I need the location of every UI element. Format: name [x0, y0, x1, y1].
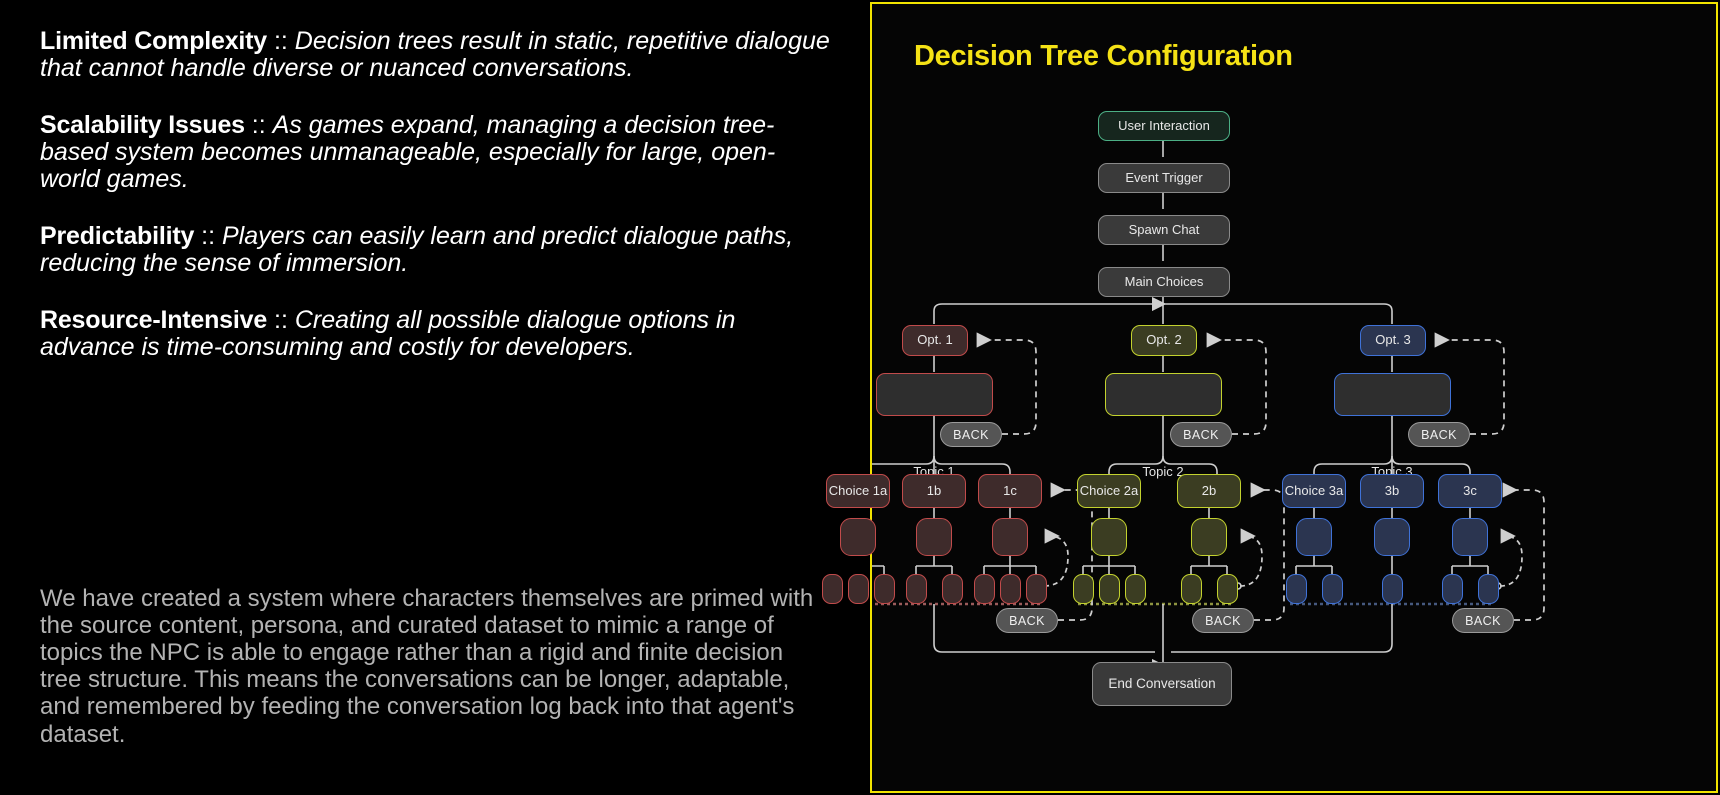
node-sub-3a[interactable] — [1296, 518, 1332, 556]
back-button-topic-2[interactable]: BACK — [1192, 608, 1254, 633]
node-leaf[interactable] — [906, 574, 927, 604]
node-spawn-chat[interactable]: Spawn Chat — [1098, 215, 1230, 245]
bullet-item: Resource-Intensive :: Creating all possi… — [40, 307, 830, 361]
node-leaf[interactable] — [874, 574, 895, 604]
bullet-separator: :: — [267, 306, 295, 334]
node-end-conversation[interactable]: End Conversation — [1092, 662, 1232, 706]
node-leaf[interactable] — [1181, 574, 1202, 604]
node-sub-2a[interactable] — [1091, 518, 1127, 556]
node-main-choices[interactable]: Main Choices — [1098, 267, 1230, 297]
node-leaf[interactable] — [1026, 574, 1047, 604]
node-opt-3-panel[interactable] — [1334, 373, 1451, 416]
closing-paragraph: We have created a system where character… — [40, 585, 830, 748]
bullet-item: Scalability Issues :: As games expand, m… — [40, 112, 830, 193]
bullet-term: Scalability Issues — [40, 111, 245, 139]
decision-tree-panel: Decision Tree Configuration — [870, 2, 1718, 793]
node-leaf[interactable] — [942, 574, 963, 604]
node-leaf[interactable] — [1000, 574, 1021, 604]
diagram-connectors — [872, 4, 1720, 795]
node-sub-3b[interactable] — [1374, 518, 1410, 556]
node-sub-1b[interactable] — [916, 518, 952, 556]
node-choice-3c[interactable]: 3c — [1438, 474, 1502, 508]
node-event-trigger[interactable]: Event Trigger — [1098, 163, 1230, 193]
bullet-term: Limited Complexity — [40, 27, 267, 55]
node-leaf[interactable] — [1286, 574, 1307, 604]
back-button-opt-3[interactable]: BACK — [1408, 422, 1470, 447]
node-leaf[interactable] — [1125, 574, 1146, 604]
back-button-opt-1[interactable]: BACK — [940, 422, 1002, 447]
bullet-term: Predictability — [40, 222, 194, 250]
node-opt-3[interactable]: Opt. 3 — [1360, 325, 1426, 356]
node-sub-2b[interactable] — [1191, 518, 1227, 556]
node-leaf[interactable] — [1073, 574, 1094, 604]
back-button-topic-3[interactable]: BACK — [1452, 608, 1514, 633]
bullet-separator: :: — [245, 111, 273, 139]
node-leaf[interactable] — [1382, 574, 1403, 604]
bullet-item: Limited Complexity :: Decision trees res… — [40, 28, 830, 82]
node-opt-1[interactable]: Opt. 1 — [902, 325, 968, 356]
slide-root: Limited Complexity :: Decision trees res… — [0, 0, 1720, 795]
bullet-item: Predictability :: Players can easily lea… — [40, 223, 830, 277]
node-sub-1c[interactable] — [992, 518, 1028, 556]
node-leaf[interactable] — [848, 574, 869, 604]
node-sub-3c[interactable] — [1452, 518, 1488, 556]
node-choice-2b[interactable]: 2b — [1177, 474, 1241, 508]
node-choice-1a[interactable]: Choice 1a — [826, 474, 890, 508]
node-leaf[interactable] — [822, 574, 843, 604]
node-choice-3a[interactable]: Choice 3a — [1282, 474, 1346, 508]
node-leaf[interactable] — [1217, 574, 1238, 604]
node-leaf[interactable] — [1099, 574, 1120, 604]
node-opt-1-panel[interactable] — [876, 373, 993, 416]
bullet-separator: :: — [267, 27, 295, 55]
node-choice-3b[interactable]: 3b — [1360, 474, 1424, 508]
back-button-opt-2[interactable]: BACK — [1170, 422, 1232, 447]
node-leaf[interactable] — [1322, 574, 1343, 604]
node-user-interaction[interactable]: User Interaction — [1098, 111, 1230, 141]
node-leaf[interactable] — [974, 574, 995, 604]
node-leaf[interactable] — [1442, 574, 1463, 604]
node-choice-2a[interactable]: Choice 2a — [1077, 474, 1141, 508]
back-button-topic-1[interactable]: BACK — [996, 608, 1058, 633]
bullet-separator: :: — [194, 222, 222, 250]
node-choice-1c[interactable]: 1c — [978, 474, 1042, 508]
node-opt-2-panel[interactable] — [1105, 373, 1222, 416]
node-leaf[interactable] — [1478, 574, 1499, 604]
node-choice-1b[interactable]: 1b — [902, 474, 966, 508]
node-sub-1a[interactable] — [840, 518, 876, 556]
bullet-term: Resource-Intensive — [40, 306, 267, 334]
node-opt-2[interactable]: Opt. 2 — [1131, 325, 1197, 356]
